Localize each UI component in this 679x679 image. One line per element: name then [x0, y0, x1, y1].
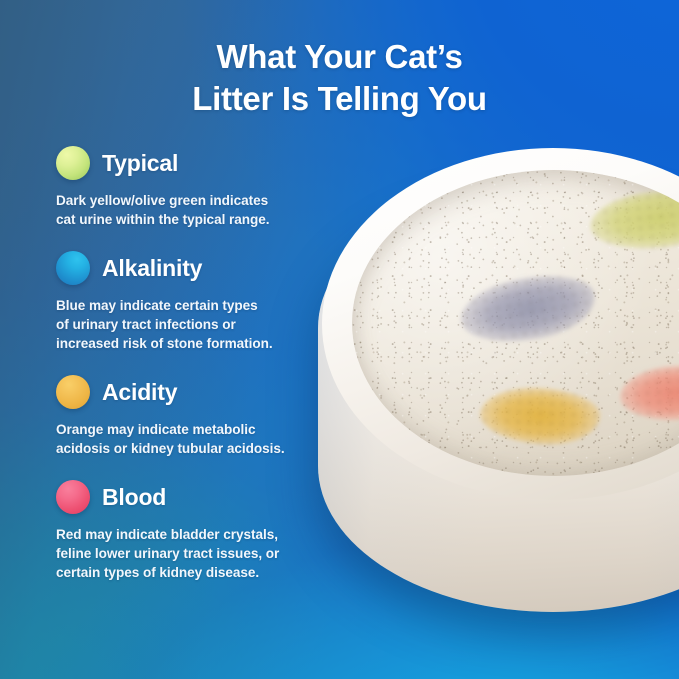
legend-header: Alkalinity	[56, 251, 326, 285]
alkalinity-color-swatch-icon	[56, 251, 90, 285]
legend-description-line: acidosis or kidney tubular acidosis.	[56, 439, 326, 458]
legend-header: Blood	[56, 480, 326, 514]
legend-description-line: feline lower urinary tract issues, or	[56, 544, 326, 563]
legend-description-line: Orange may indicate metabolic	[56, 420, 326, 439]
legend-description-line: Blue may indicate certain types	[56, 296, 326, 315]
legend-label: Blood	[102, 484, 166, 511]
legend-list: Typical Dark yellow/olive green indicate…	[56, 146, 326, 604]
legend-label: Typical	[102, 150, 178, 177]
typical-color-swatch-icon	[56, 146, 90, 180]
legend-description-line: of urinary tract infections or	[56, 315, 326, 334]
page-title: What Your Cat’s Litter Is Telling You	[0, 36, 679, 119]
legend-description: Blue may indicate certain types of urina…	[56, 296, 326, 353]
acidity-color-swatch-icon	[56, 375, 90, 409]
legend-description: Red may indicate bladder crystals, felin…	[56, 525, 326, 582]
legend-description: Orange may indicate metabolic acidosis o…	[56, 420, 326, 458]
legend-description-line: Red may indicate bladder crystals,	[56, 525, 326, 544]
legend-header: Typical	[56, 146, 326, 180]
legend-label: Alkalinity	[102, 255, 202, 282]
infographic-poster: What Your Cat’s Litter Is Telling You Ty…	[0, 0, 679, 679]
page-title-line-1: What Your Cat’s	[0, 36, 679, 78]
blood-color-swatch-icon	[56, 480, 90, 514]
legend-header: Acidity	[56, 375, 326, 409]
legend-description-line: certain types of kidney disease.	[56, 563, 326, 582]
litter-surface	[352, 170, 679, 476]
legend-item-blood: Blood Red may indicate bladder crystals,…	[56, 480, 326, 582]
litter-tray-photo	[318, 148, 679, 648]
legend-description: Dark yellow/olive green indicates cat ur…	[56, 191, 326, 229]
legend-item-typical: Typical Dark yellow/olive green indicate…	[56, 146, 326, 229]
legend-description-line: Dark yellow/olive green indicates	[56, 191, 326, 210]
legend-description-line: cat urine within the typical range.	[56, 210, 326, 229]
legend-label: Acidity	[102, 379, 177, 406]
legend-item-acidity: Acidity Orange may indicate metabolic ac…	[56, 375, 326, 458]
legend-item-alkalinity: Alkalinity Blue may indicate certain typ…	[56, 251, 326, 353]
legend-description-line: increased risk of stone formation.	[56, 334, 326, 353]
page-title-line-2: Litter Is Telling You	[0, 78, 679, 120]
